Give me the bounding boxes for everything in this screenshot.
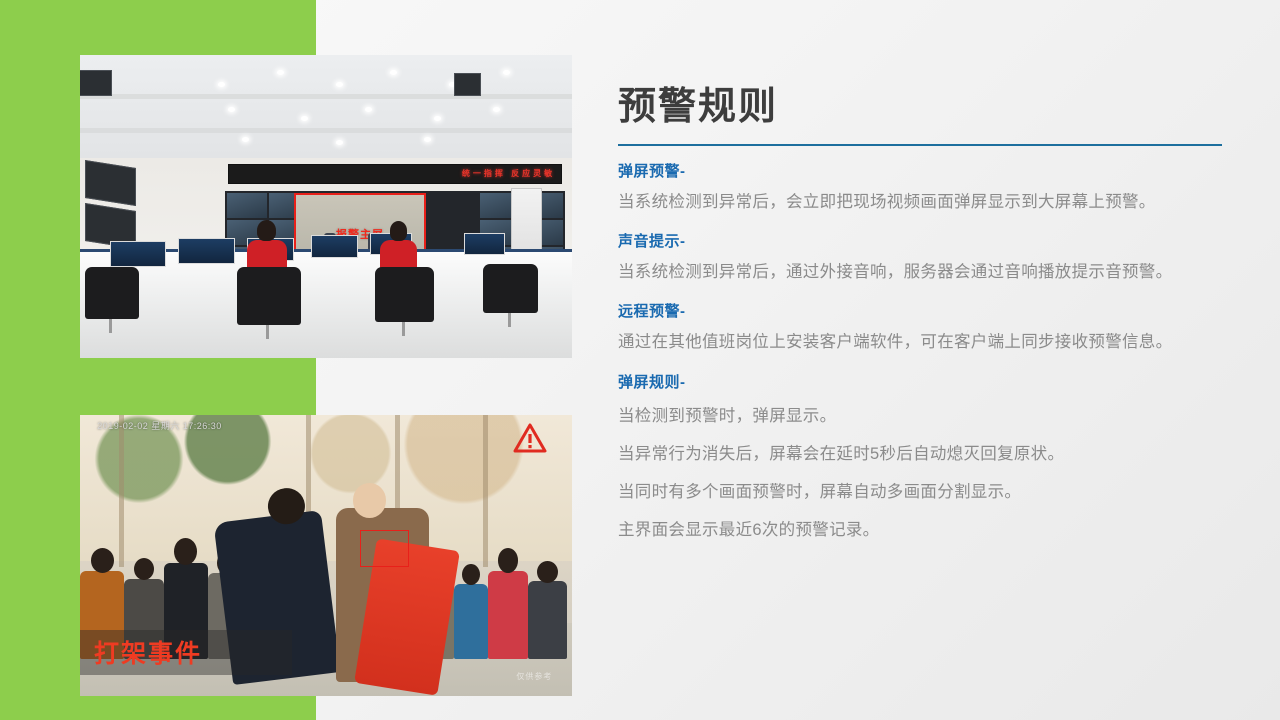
section-heading: 远程预警- [618, 300, 1222, 321]
bystander [454, 584, 488, 660]
ceiling-light [493, 107, 500, 112]
section-popup-rules: 弹屏规则- 当检测到预警时，弹屏显示。 当异常行为消失后，屏幕会在延时5秒后自动… [618, 371, 1222, 540]
office-chair [85, 267, 139, 319]
ceiling-light [336, 140, 343, 145]
section-heading: 弹屏规则- [618, 371, 1222, 392]
timestamp-overlay: 2019-02-02 星期六 17:26:30 [97, 419, 222, 432]
section-body: 当系统检测到异常后，通过外接音响，服务器会通过音响播放提示音预警。 [618, 258, 1222, 286]
wall-speaker [80, 70, 112, 96]
console-monitor [110, 241, 166, 267]
rule-item: 当同时有多个画面预警时，屏幕自动多画面分割显示。 [618, 478, 1222, 502]
office-chair [237, 267, 301, 325]
ceiling-light [301, 116, 308, 121]
ceiling-beam [80, 94, 572, 99]
bystander [488, 571, 527, 660]
section-body: 通过在其他值班岗位上安装客户端软件，可在客户端上同步接收预警信息。 [618, 328, 1222, 356]
section-heading: 弹屏预警- [618, 160, 1222, 181]
section-heading: 声音提示- [618, 230, 1222, 251]
slide-root: 统一指挥 反应灵敏 [0, 0, 1280, 720]
ceiling-light [277, 70, 284, 75]
ceiling-light [365, 107, 372, 112]
led-banner: 统一指挥 反应灵敏 [228, 164, 563, 184]
ceiling-beam [80, 128, 572, 133]
rule-item: 当异常行为消失后，屏幕会在延时5秒后自动熄灭回复原状。 [618, 440, 1222, 464]
fight-scene-photo: 2019-02-02 星期六 17:26:30 仅供参考 打架事件 [80, 415, 572, 696]
console-monitor [464, 233, 505, 255]
watermark: 仅供参考 [516, 671, 552, 682]
event-caption-bar: 打架事件 [80, 630, 292, 675]
section-sound-alert: 声音提示- 当系统检测到异常后，通过外接音响，服务器会通过音响播放提示音预警。 [618, 230, 1222, 286]
warning-triangle-icon [513, 423, 547, 453]
rule-item: 当检测到预警时，弹屏显示。 [618, 402, 1222, 426]
wall-speaker [454, 73, 481, 96]
side-monitor [85, 160, 136, 206]
ceiling-light [228, 107, 235, 112]
fight-scene: 2019-02-02 星期六 17:26:30 仅供参考 打架事件 [80, 415, 572, 696]
section-remote-alert: 远程预警- 通过在其他值班岗位上安装客户端软件，可在客户端上同步接收预警信息。 [618, 300, 1222, 356]
office-chair [375, 267, 434, 322]
event-caption-text: 打架事件 [94, 634, 202, 670]
video-tile [227, 193, 267, 218]
console-monitor [311, 235, 357, 258]
content-column: 预警规则 弹屏预警- 当系统检测到异常后，会立即把现场视频画面弹屏显示到大屏幕上… [618, 86, 1222, 554]
section-popup-alert: 弹屏预警- 当系统检测到异常后，会立即把现场视频画面弹屏显示到大屏幕上预警。 [618, 160, 1222, 216]
led-banner-text: 统一指挥 反应灵敏 [462, 168, 555, 179]
page-title: 预警规则 [618, 86, 1222, 130]
rule-item: 主界面会显示最近6次的预警记录。 [618, 516, 1222, 540]
ceiling-light [434, 116, 441, 121]
office-chair [483, 264, 537, 312]
control-room-scene: 统一指挥 反应灵敏 [80, 55, 572, 358]
video-tile [438, 193, 478, 218]
control-room-photo: 统一指挥 反应灵敏 [80, 55, 572, 358]
rules-list: 当检测到预警时，弹屏显示。 当异常行为消失后，屏幕会在延时5秒后自动熄灭回复原状… [618, 402, 1222, 540]
section-body: 当系统检测到异常后，会立即把现场视频画面弹屏显示到大屏幕上预警。 [618, 188, 1222, 216]
bystander [528, 581, 567, 659]
face-detection-box [360, 530, 409, 567]
console-monitor [178, 238, 234, 264]
title-underline [618, 144, 1222, 146]
